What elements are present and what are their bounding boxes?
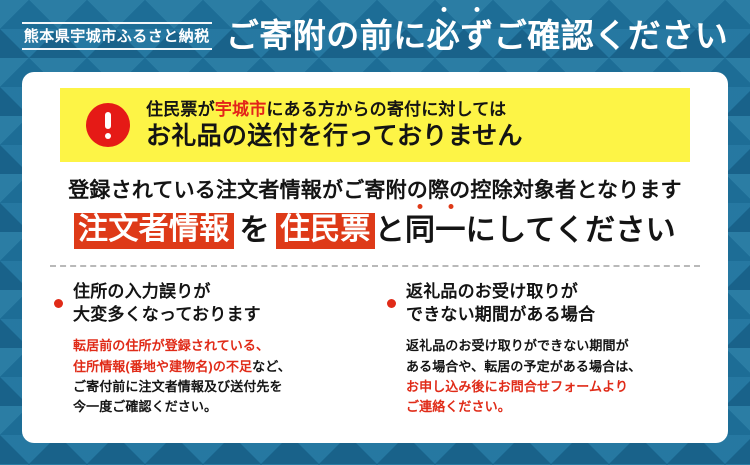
- note-right-title: 返礼品のお受け取りが できない期間がある場合: [406, 281, 595, 327]
- chip-order-info: 注文者情報: [74, 213, 234, 249]
- alert-line1-highlight: 宇城市: [215, 100, 267, 119]
- middle-emphasis-char-1: 同: [405, 214, 435, 247]
- note-column-right: 返礼品のお受け取りが できない期間がある場合 返礼品のお受け取りができない期間が…: [387, 281, 696, 417]
- headline-emphasis-char-1: 必: [427, 19, 461, 52]
- kicker-rule-bottom: [22, 48, 212, 50]
- note-left-title-line1: 住所の入力誤りが: [73, 281, 261, 304]
- alert-line-2: お礼品の送付を行っておりません: [146, 122, 523, 150]
- note-right-head: 返礼品のお受け取りが できない期間がある場合: [387, 281, 696, 327]
- kicker-rule-top: [22, 22, 212, 24]
- alert-box: 住民票が宇城市にある方からの寄付に対しては お礼品の送付を行っておりません: [60, 88, 690, 162]
- middle-line-2: 注文者情報 を 住民票 と同一にしてください: [44, 213, 706, 249]
- header-inner: 熊本県宇城市ふるさと納税 ご寄附の前に必ずご確認ください: [22, 19, 729, 54]
- note-right-body-line2: ある場合や、転居の予定がある場合は、: [406, 357, 696, 377]
- middle-tail-before: と: [375, 214, 405, 247]
- alert-text: 住民票が宇城市にある方からの寄付に対しては お礼品の送付を行っておりません: [146, 100, 523, 150]
- note-left-body-line1: 転居前の住所が登録されている、: [73, 336, 363, 356]
- note-left-body: 転居前の住所が登録されている、 住所情報(番地や建物名)の不足など、 ご寄付前に…: [73, 336, 363, 417]
- note-left-title-line2: 大変多くなっております: [73, 304, 261, 327]
- page-title: ご寄附の前に必ずご確認ください: [226, 19, 729, 52]
- notice-banner: 熊本県宇城市ふるさと納税 ご寄附の前に必ずご確認ください 住民票が宇城市にある方…: [0, 0, 750, 465]
- notes-columns: 住所の入力誤りが 大変多くなっております 転居前の住所が登録されている、 住所情…: [44, 281, 706, 417]
- section-divider: [50, 265, 700, 267]
- red-dot-bullet-icon: [387, 299, 396, 308]
- headline-part-before: ご寄附の前に: [226, 19, 427, 52]
- note-right-title-line1: 返礼品のお受け取りが: [406, 281, 595, 304]
- note-left-body-line3: ご寄付前に注文者情報及び送付先を: [73, 377, 363, 397]
- note-right-title-line2: できない期間がある場合: [406, 304, 595, 327]
- note-left-body-line2: 住所情報(番地や建物名)の不足など、: [73, 357, 363, 377]
- note-right-body-line4: ご連絡ください。: [406, 397, 696, 417]
- middle-connector: を: [234, 214, 276, 247]
- kicker-text: 熊本県宇城市ふるさと納税: [22, 24, 212, 48]
- note-left-head: 住所の入力誤りが 大変多くなっております: [54, 281, 363, 327]
- kicker-block: 熊本県宇城市ふるさと納税: [22, 20, 212, 50]
- exclamation-circle-icon: [86, 103, 130, 147]
- note-left-body-line2-tail: など、: [252, 359, 291, 374]
- note-left-body-line4: 今一度ご確認ください。: [73, 397, 363, 417]
- note-left-title: 住所の入力誤りが 大変多くなっております: [73, 281, 261, 327]
- note-right-body: 返礼品のお受け取りができない期間が ある場合や、転居の予定がある場合は、 お申し…: [406, 336, 696, 417]
- middle-section: 登録されている注文者情報がご寄附の際の控除対象者となります 注文者情報 を 住民…: [44, 179, 706, 249]
- middle-emphasis-char-2: 一: [435, 214, 465, 247]
- note-left-body-line2-red: 住所情報(番地や建物名)の不足: [73, 359, 252, 374]
- banner-header: 熊本県宇城市ふるさと納税 ご寄附の前に必ずご確認ください: [0, 0, 750, 72]
- headline-emphasis-char-2: ず: [460, 19, 494, 52]
- note-column-left: 住所の入力誤りが 大変多くなっております 転居前の住所が登録されている、 住所情…: [54, 281, 363, 417]
- note-right-body-line3: お申し込み後にお問合せフォームより: [406, 377, 696, 397]
- middle-tail-after: にしてください: [466, 214, 676, 247]
- headline-part-after: ご確認ください: [494, 19, 729, 52]
- note-right-body-line1: 返礼品のお受け取りができない期間が: [406, 336, 696, 356]
- alert-line1-part2: にある方からの寄付に対しては: [266, 100, 506, 119]
- chip-residence-certificate: 住民票: [276, 213, 375, 249]
- middle-line-1: 登録されている注文者情報がご寄附の際の控除対象者となります: [44, 179, 706, 202]
- alert-line1-part1: 住民票が: [146, 100, 215, 119]
- content-card: 住民票が宇城市にある方からの寄付に対しては お礼品の送付を行っておりません 登録…: [22, 72, 728, 443]
- red-dot-bullet-icon: [54, 299, 63, 308]
- alert-line-1: 住民票が宇城市にある方からの寄付に対しては: [146, 100, 523, 119]
